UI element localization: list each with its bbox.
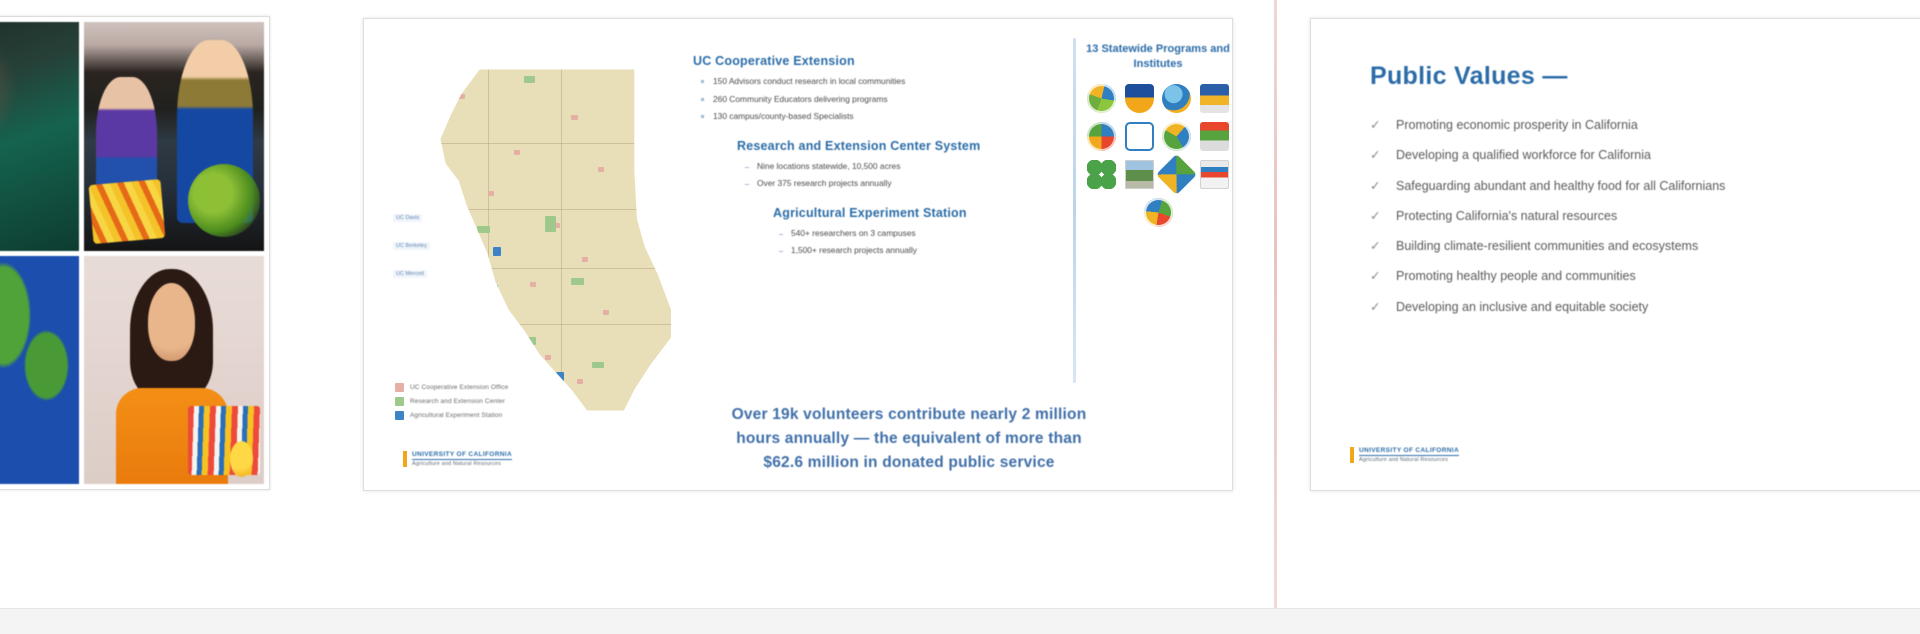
list-item: ✓Promoting healthy people and communitie… (1370, 268, 1920, 284)
statewide-program-icon[interactable] (1144, 198, 1173, 227)
legend-swatch-research-center (395, 397, 404, 406)
four-h-youth-development-icon[interactable] (1087, 160, 1116, 189)
column-divider (1073, 38, 1076, 383)
viewport-bottom-band (0, 608, 1920, 634)
volunteer-impact-statement: Over 19k volunteers contribute nearly 2 … (603, 403, 1215, 475)
list-item-label: Building climate-resilient communities a… (1396, 239, 1698, 253)
statement-line-1: Over 19k volunteers contribute nearly 2 … (603, 403, 1215, 427)
map-callout-uc-berkeley: UC Berkeley (393, 242, 430, 250)
legend-swatch-experiment-station (395, 411, 404, 420)
bullet: 1,500+ research projects annually (779, 245, 1059, 256)
logo-gold-bar (403, 451, 407, 468)
public-values-slide[interactable]: Public Values — ✓Promoting economic pros… (1310, 18, 1920, 491)
check-icon: ✓ (1370, 299, 1380, 315)
page-title: Public Values — (1370, 62, 1920, 91)
list-item-label: Developing an inclusive and equitable so… (1396, 300, 1648, 314)
list-item: ✓Promoting economic prosperity in Califo… (1370, 117, 1920, 133)
list-item: ✓Building climate-resilient communities … (1370, 238, 1920, 254)
photo-farmers-market (0, 22, 79, 251)
public-values-list: ✓Promoting economic prosperity in Califo… (1370, 117, 1920, 315)
photo-grid (0, 22, 264, 484)
expanded-food-nutrition-education-icon[interactable] (1200, 122, 1229, 151)
check-icon: ✓ (1370, 208, 1380, 224)
list-item: ✓Developing an inclusive and equitable s… (1370, 299, 1920, 315)
section-bullets: 150 Advisors conduct research in local c… (693, 76, 1059, 122)
photo-student-supplies (84, 256, 265, 485)
program-icon-grid-last-row (1085, 198, 1231, 227)
section-agricultural-experiment-station: Agricultural Experiment Station 540+ res… (693, 206, 1059, 256)
sustainable-agriculture-icon[interactable] (1162, 122, 1191, 151)
uc-calfresh-icon[interactable] (1125, 122, 1154, 151)
statement-line-3: $62.6 million in donated public service (603, 451, 1215, 475)
bullet: Nine locations statewide, 10,500 acres (745, 161, 1059, 172)
logo-gold-bar (1350, 447, 1354, 464)
section-cooperative-extension: UC Cooperative Extension 150 Advisors co… (693, 54, 1059, 122)
bullet: 540+ researchers on 3 campuses (779, 228, 1059, 239)
california-state-shape (409, 66, 671, 414)
uc-anr-logo: UNIVERSITY OF CALIFORNIA Agriculture and… (1350, 447, 1459, 464)
california-map: UC Davis UC Berkeley UC Merced (393, 66, 685, 414)
nutrition-education-icon[interactable] (1200, 160, 1229, 189)
photo-produce-group (84, 22, 265, 251)
programs-title: 13 Statewide Programs and Institutes (1085, 42, 1231, 72)
logo-line-university: UNIVERSITY OF CALIFORNIA (1359, 447, 1459, 456)
section-bullets: 540+ researchers on 3 campuses 1,500+ re… (693, 228, 1059, 256)
legend-label: Agricultural Experiment Station (410, 412, 502, 419)
map-callout-uc-davis: UC Davis (393, 214, 422, 222)
section-title: Agricultural Experiment Station (773, 206, 1059, 220)
check-icon: ✓ (1370, 117, 1380, 133)
list-item-label: Developing a qualified workforce for Cal… (1396, 148, 1651, 162)
map-legend: UC Cooperative Extension Office Research… (395, 383, 508, 425)
list-item-label: Promoting economic prosperity in Califor… (1396, 118, 1638, 132)
legend-swatch-extension-office (395, 383, 404, 392)
uc-anr-logo: UNIVERSITY OF CALIFORNIA Agriculture and… (403, 451, 512, 468)
program-sections: UC Cooperative Extension 150 Advisors co… (693, 54, 1059, 273)
programs-overview-slide[interactable]: UC Davis UC Berkeley UC Merced UC Cooper… (363, 18, 1233, 491)
map-callout-uc-merced: UC Merced (393, 270, 427, 278)
check-icon: ✓ (1370, 238, 1380, 254)
list-item: ✓Safeguarding abundant and healthy food … (1370, 178, 1920, 194)
legend-item: Research and Extension Center (395, 397, 508, 406)
rangeland-watershed-icon[interactable] (1125, 160, 1154, 189)
list-item-label: Protecting California's natural resource… (1396, 209, 1617, 223)
legend-item: Agricultural Experiment Station (395, 411, 508, 420)
logo-line-division: Agriculture and Natural Resources (1359, 457, 1459, 463)
section-bullets: Nine locations statewide, 10,500 acres O… (693, 161, 1059, 189)
integrated-pest-management-icon[interactable] (1125, 84, 1154, 113)
master-gardener-icon[interactable] (1162, 84, 1191, 113)
slides-viewport: UC Davis UC Berkeley UC Merced UC Cooper… (0, 0, 1920, 634)
statewide-programs-panel: 13 Statewide Programs and Institutes (1085, 42, 1231, 227)
section-research-extension-centers: Research and Extension Center System Nin… (693, 139, 1059, 189)
logo-line-university: UNIVERSITY OF CALIFORNIA (412, 451, 512, 460)
bullet: 260 Community Educators delivering progr… (701, 94, 1059, 105)
check-icon: ✓ (1370, 268, 1380, 284)
section-title: Research and Extension Center System (737, 139, 1059, 153)
legend-label: Research and Extension Center (410, 398, 505, 405)
list-item-label: Safeguarding abundant and healthy food f… (1396, 179, 1725, 193)
check-icon: ✓ (1370, 147, 1380, 163)
section-title: UC Cooperative Extension (693, 54, 1059, 68)
bullet: Over 375 research projects annually (745, 178, 1059, 189)
check-icon: ✓ (1370, 178, 1380, 194)
legend-label: UC Cooperative Extension Office (410, 384, 508, 391)
photo-classroom-map (0, 256, 79, 485)
logo-line-division: Agriculture and Natural Resources (412, 461, 512, 467)
statement-line-2: hours annually — the equivalent of more … (603, 427, 1215, 451)
legend-item: UC Cooperative Extension Office (395, 383, 508, 392)
bullet: 130 campus/county-based Specialists (701, 111, 1059, 122)
list-item: ✓Developing a qualified workforce for Ca… (1370, 147, 1920, 163)
sustainable-groundwater-icon[interactable] (1156, 154, 1197, 195)
nutrition-policy-institute-icon[interactable] (1200, 84, 1229, 113)
photo-collage-slide[interactable] (0, 16, 270, 490)
program-icon-grid (1085, 84, 1231, 189)
bullet: 150 Advisors conduct research in local c… (701, 76, 1059, 87)
page-separator (1274, 0, 1277, 634)
list-item-label: Promoting healthy people and communities (1396, 269, 1636, 283)
california-naturalist-icon[interactable] (1087, 84, 1116, 113)
informatics-gis-icon[interactable] (1087, 122, 1116, 151)
list-item: ✓Protecting California's natural resourc… (1370, 208, 1920, 224)
